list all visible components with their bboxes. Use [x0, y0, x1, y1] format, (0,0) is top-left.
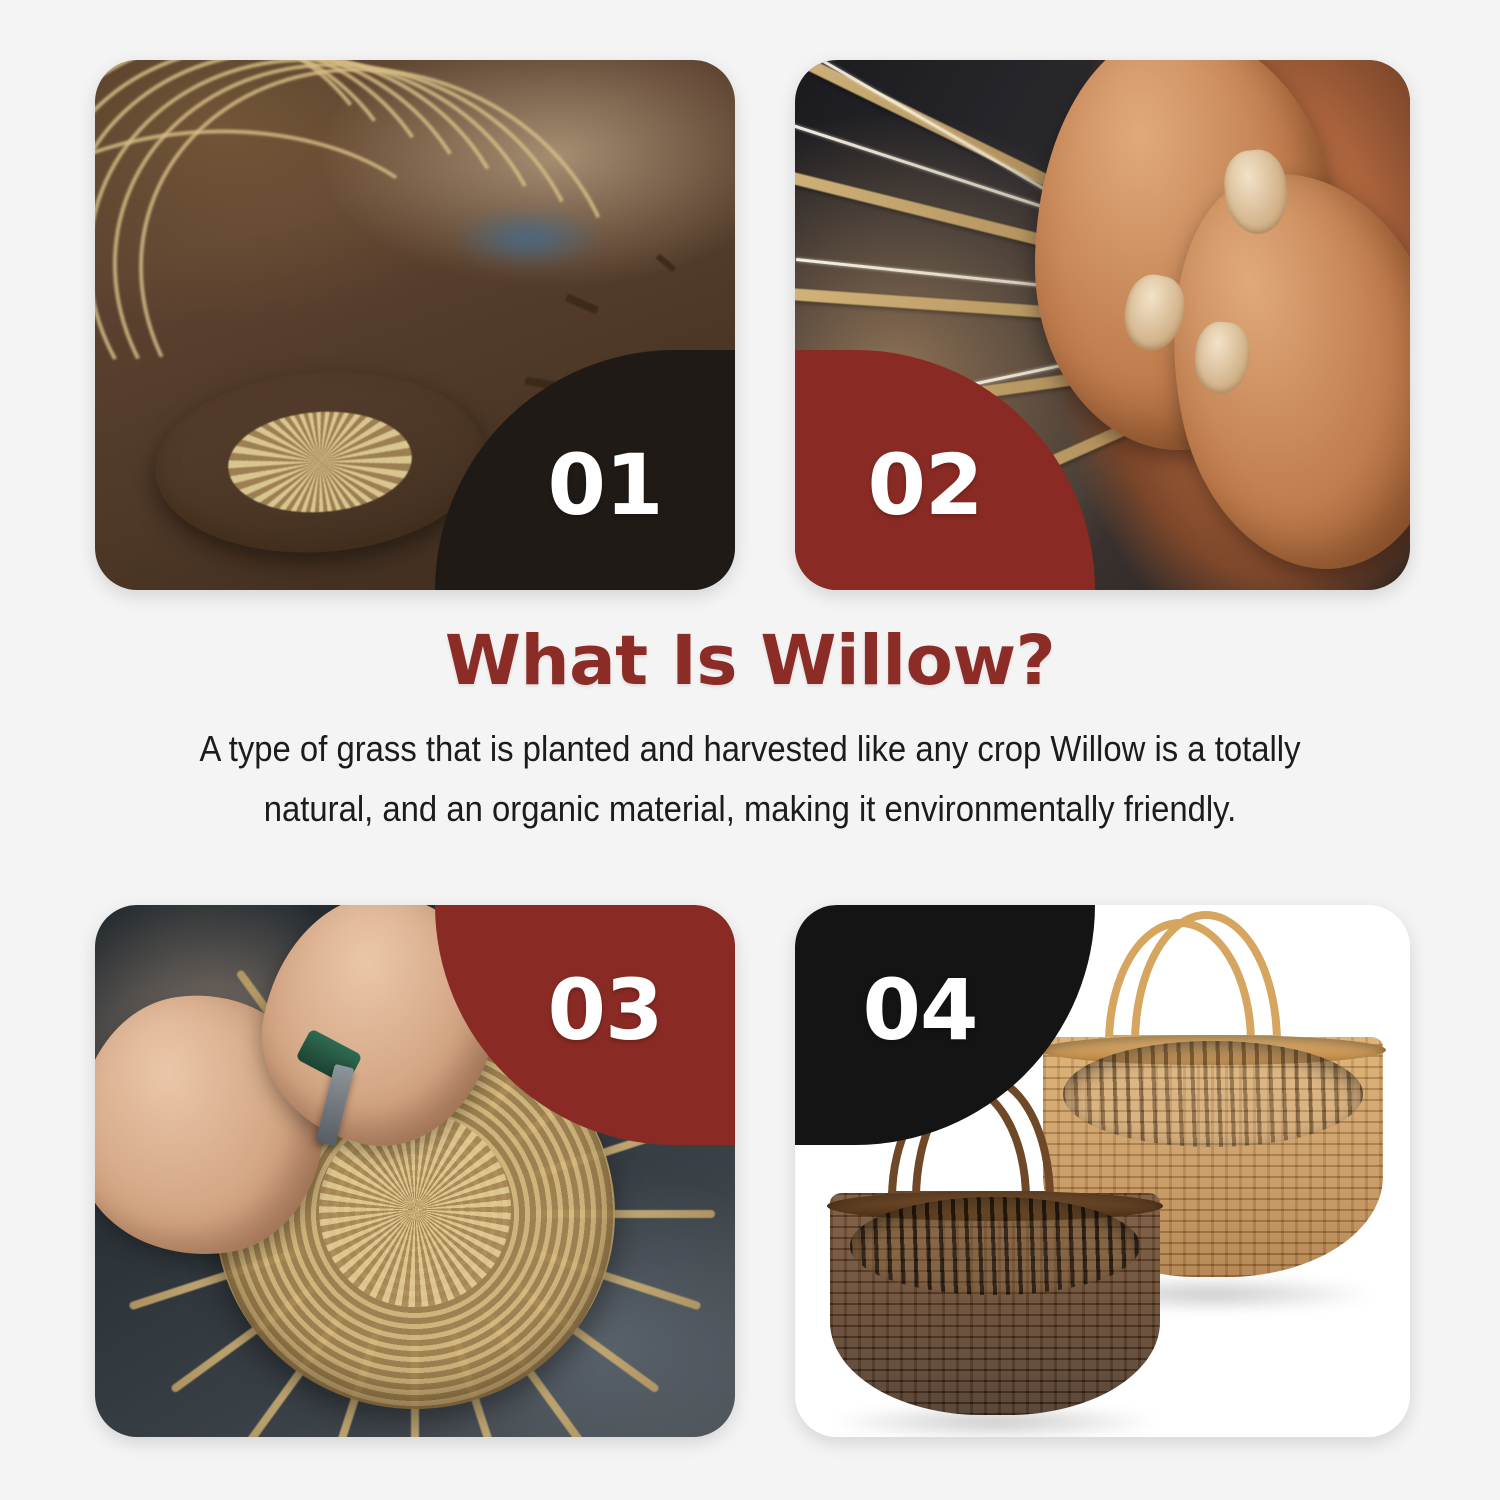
card-01[interactable]: 01: [95, 60, 735, 590]
willow-infographic: 01 02: [0, 0, 1500, 1500]
card-03[interactable]: 03: [95, 905, 735, 1437]
basket-dark: [830, 1193, 1160, 1415]
card-03-number: 03: [548, 968, 663, 1052]
center-text-block: What Is Willow? A type of grass that is …: [0, 625, 1500, 838]
card-04[interactable]: 04: [795, 905, 1410, 1437]
card-02-number: 02: [868, 443, 983, 527]
card-01-number: 01: [548, 443, 663, 527]
card-02[interactable]: 02: [795, 60, 1410, 590]
page-title: What Is Willow?: [0, 625, 1500, 697]
card-04-number: 04: [863, 968, 978, 1052]
page-description: A type of grass that is planted and harv…: [143, 719, 1358, 837]
